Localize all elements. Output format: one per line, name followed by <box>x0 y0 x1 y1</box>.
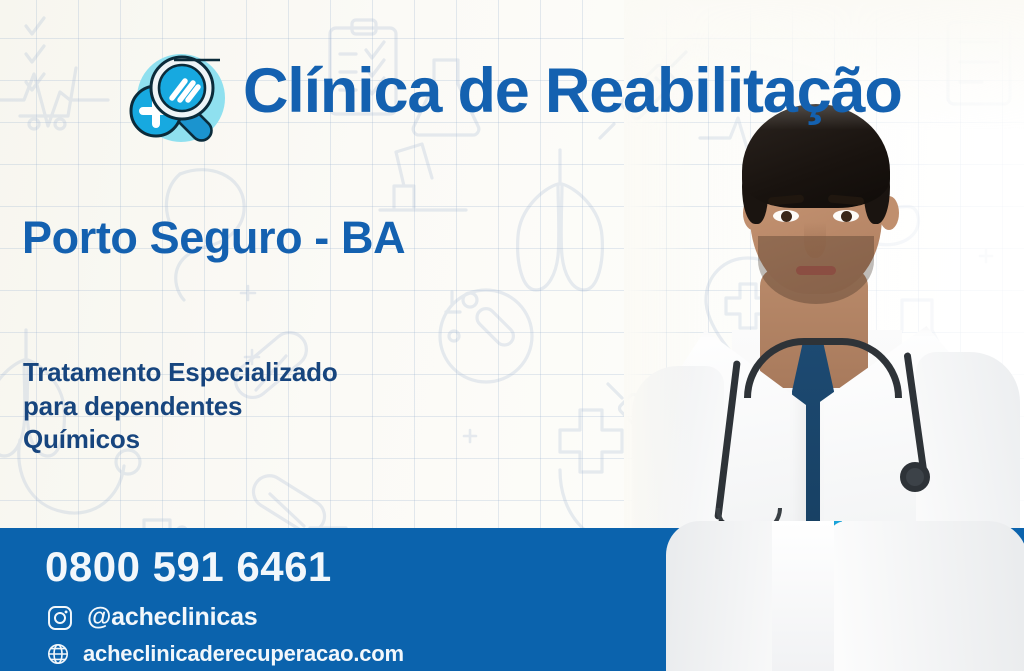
globe-icon <box>46 642 70 666</box>
subtitle-line-1: Tratamento Especializado <box>23 356 338 390</box>
doctor-nose <box>804 222 826 258</box>
doctor-eye-right <box>833 210 859 222</box>
city-heading: Porto Seguro - BA <box>22 212 405 264</box>
doctor-eye-left <box>773 210 799 222</box>
instagram-handle: @acheclinicas <box>87 603 257 632</box>
website-url: acheclinicaderecuperacao.com <box>83 641 404 667</box>
subtitle-line-2: para dependentes <box>23 390 338 424</box>
doctor-mouth <box>796 266 836 275</box>
promo-banner: 0800 591 6461 @acheclinicas <box>0 0 1024 671</box>
magnifier-plus-icon <box>124 48 234 152</box>
instagram-contact[interactable]: @acheclinicas <box>46 603 257 632</box>
service-subtitle: Tratamento Especializado para dependente… <box>23 356 338 457</box>
phone-number[interactable]: 0800 591 6461 <box>45 543 332 591</box>
page-title: Clínica de Reabilitação <box>243 56 902 127</box>
stethoscope-bell <box>900 462 930 492</box>
instagram-icon <box>46 604 74 632</box>
subtitle-line-3: Químicos <box>23 423 338 457</box>
doctor-coat-over-footer <box>652 521 1024 671</box>
website-contact[interactable]: acheclinicaderecuperacao.com <box>46 641 404 667</box>
